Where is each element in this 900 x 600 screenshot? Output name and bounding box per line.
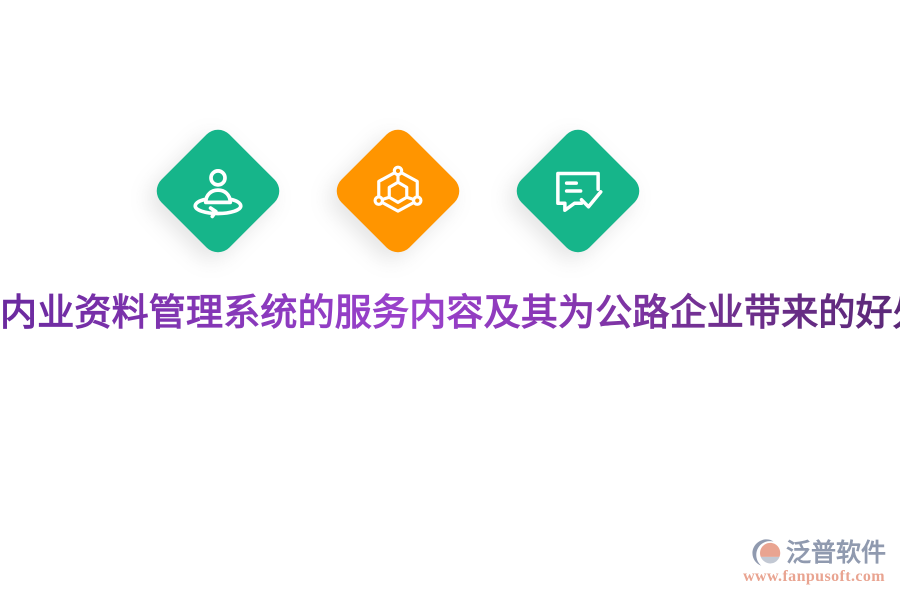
feature-icon-service-user[interactable]	[151, 124, 285, 258]
feature-icon-data-network[interactable]	[331, 124, 465, 258]
watermark-url-text: www.fanpusoft.com	[743, 568, 885, 586]
watermark: 泛普软件 www.fanpusoft.com	[743, 538, 886, 586]
hexagon-network-icon	[331, 124, 465, 258]
page-title: 内业资料管理系统的服务内容及其为公路企业带来的好处？	[0, 283, 900, 341]
feature-icon-row	[0, 124, 900, 258]
feature-icon-approved-message[interactable]	[511, 124, 645, 258]
chat-check-icon	[511, 124, 645, 258]
user-service-icon	[151, 124, 285, 258]
fanpu-logo-icon	[751, 538, 781, 567]
page-canvas: 内业资料管理系统的服务内容及其为公路企业带来的好处？ 泛普软件 www.fanp…	[0, 0, 900, 600]
watermark-brand-row: 泛普软件	[751, 538, 886, 567]
watermark-brand-text: 泛普软件	[786, 538, 886, 567]
